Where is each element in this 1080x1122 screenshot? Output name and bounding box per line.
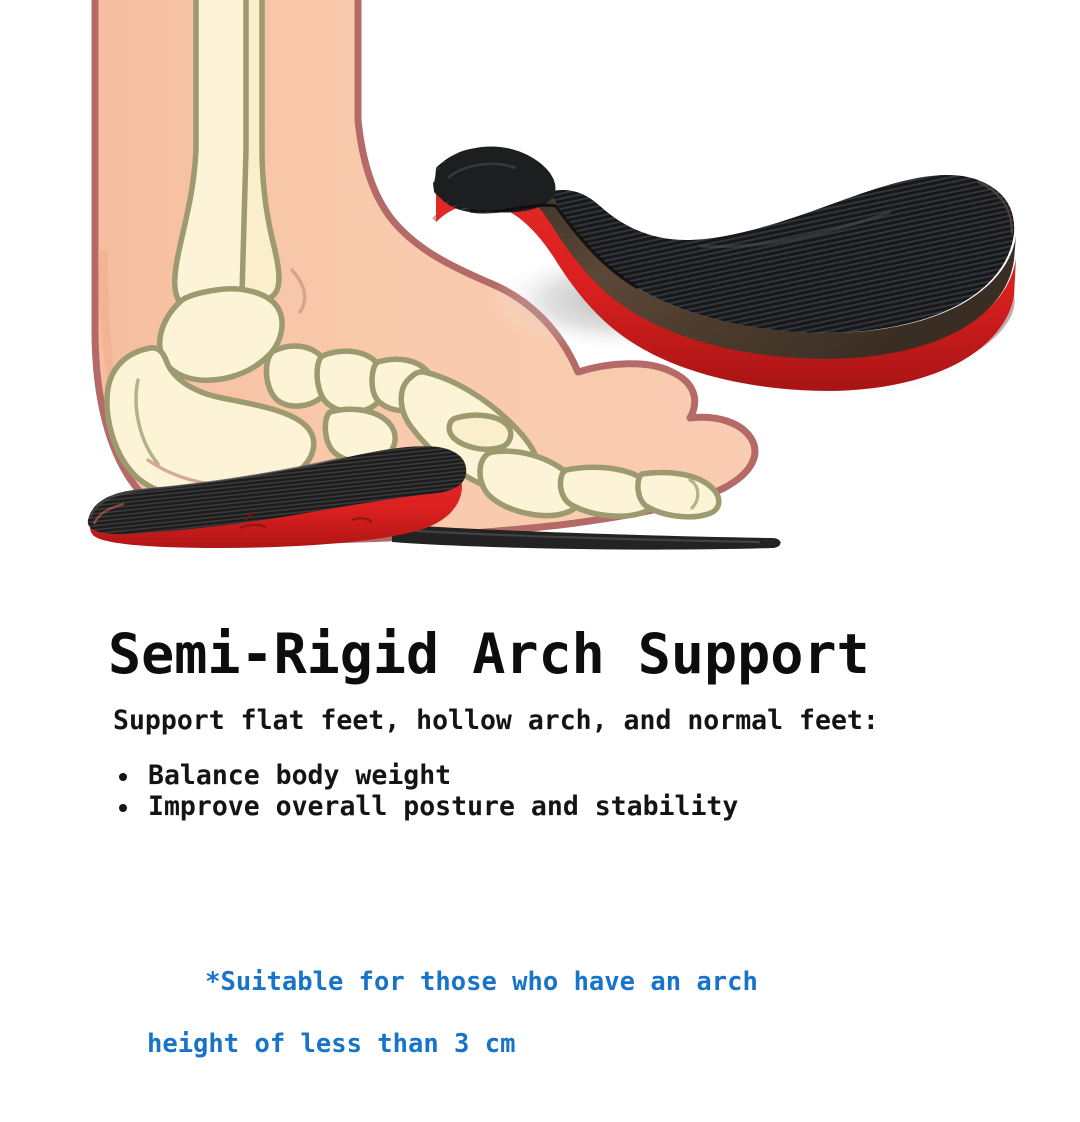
subtitle: Support flat feet, hollow arch, and norm…	[113, 705, 879, 736]
list-item-label: Balance body weight	[148, 760, 451, 791]
copy-area: Semi-Rigid Arch Support Support flat fee…	[0, 600, 1080, 1080]
bullet-dot	[119, 773, 127, 781]
footnote-line-2: height of less than 3 cm	[113, 1029, 758, 1060]
bullet-dot	[119, 804, 127, 812]
footnote-line-1: *Suitable for those who have an arch	[205, 967, 758, 997]
product-feature-card: Semi-Rigid Arch Support Support flat fee…	[0, 0, 1080, 1080]
list-item: Balance body weight	[113, 760, 738, 791]
page-title: Semi-Rigid Arch Support	[108, 626, 870, 684]
benefit-list: Balance body weight Improve overall post…	[113, 760, 738, 822]
list-item: Improve overall posture and stability	[113, 791, 738, 822]
illustration-area	[0, 0, 1080, 600]
list-item-label: Improve overall posture and stability	[148, 791, 738, 822]
footnote: *Suitable for those who have an arch hei…	[113, 936, 758, 1122]
